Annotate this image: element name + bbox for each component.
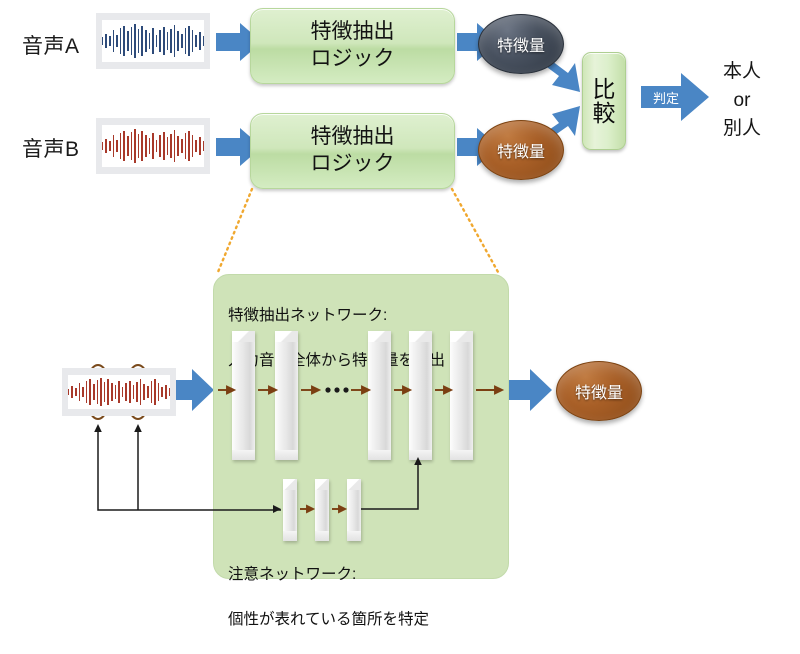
- diagram-canvas: 音声A 音声B 判定: [0, 0, 800, 600]
- audio-waveform-detail: [62, 368, 176, 416]
- network-ellipsis-dots: [325, 387, 348, 392]
- detail-feature-vector-ellipse: 特徴量: [556, 361, 642, 421]
- detail-panel-arrows: [0, 0, 800, 600]
- attention-network-caption-line2: 個性が表れている箇所を特定: [228, 609, 429, 631]
- detail-feature-vector-label: 特徴量: [575, 379, 623, 403]
